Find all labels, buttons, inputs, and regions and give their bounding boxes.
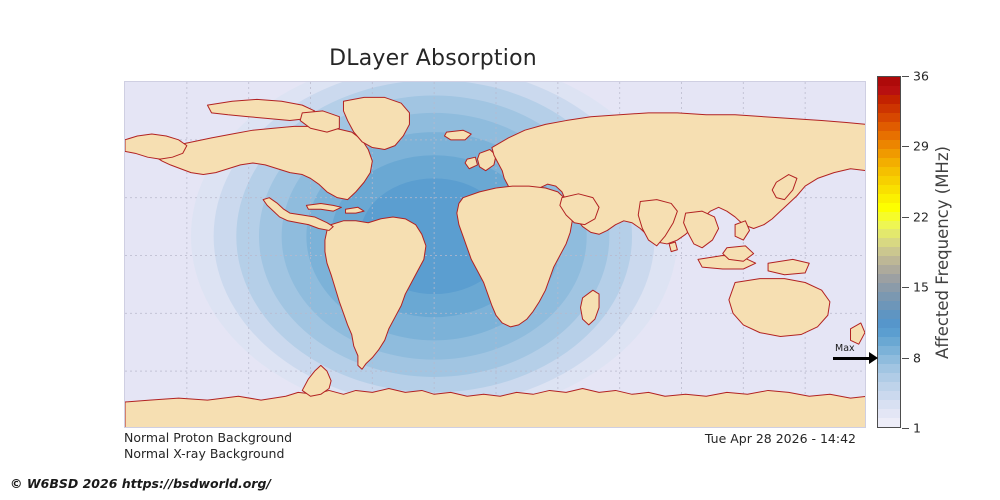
colorbar-segment <box>878 328 900 337</box>
xray-background-status: Normal X-ray Background <box>124 446 292 462</box>
landmass-australia <box>729 279 830 337</box>
world-map[interactable] <box>124 81 866 428</box>
colorbar-segment <box>878 301 900 310</box>
colorbar-tick <box>902 287 909 288</box>
page-title: DLayer Absorption <box>0 46 866 71</box>
max-marker-label: Max <box>835 344 855 354</box>
colorbar-tick <box>902 76 909 77</box>
colorbar-segment <box>878 364 900 373</box>
copyright-notice: © W6BSD 2026 https://bsdworld.org/ <box>10 476 271 491</box>
colorbar-axis-label: Affected Frequency (MHz) <box>930 76 954 428</box>
colorbar-segment <box>878 86 900 95</box>
colorbar-segment <box>878 203 900 212</box>
colorbar-tick-label: 1 <box>913 421 921 436</box>
colorbar-segment <box>878 319 900 328</box>
colorbar-segment <box>878 373 900 382</box>
landmass-iceland <box>444 130 471 140</box>
colorbar-segment <box>878 409 900 418</box>
colorbar-segment <box>878 158 900 167</box>
colorbar-segment <box>878 355 900 364</box>
map-canvas <box>125 82 865 427</box>
colorbar-tick <box>902 146 909 147</box>
timestamp: Tue Apr 28 2026 - 14:42 <box>0 431 866 446</box>
colorbar-segment <box>878 194 900 203</box>
colorbar-segment <box>878 185 900 194</box>
max-arrow-head <box>869 352 878 364</box>
colorbar-segment <box>878 140 900 149</box>
colorbar-segment <box>878 346 900 355</box>
colorbar-tick-label: 29 <box>913 139 929 154</box>
colorbar-segment <box>878 283 900 292</box>
colorbar-tick-label: 36 <box>913 69 929 84</box>
colorbar-segment <box>878 391 900 400</box>
colorbar-segment <box>878 274 900 283</box>
colorbar-segment <box>878 221 900 230</box>
colorbar-segment <box>878 337 900 346</box>
colorbar-tick-label: 15 <box>913 280 929 295</box>
colorbar-segment <box>878 238 900 247</box>
colorbar-segment <box>878 77 900 86</box>
colorbar[interactable]: 1815222936 Max <box>877 76 901 428</box>
max-arrow-shaft <box>833 357 871 360</box>
map-svg <box>125 82 865 427</box>
colorbar-segment <box>878 418 900 427</box>
max-marker: Max <box>833 349 879 369</box>
landmass-alaska <box>125 134 187 159</box>
dlayer-absorption-page: DLayer Absorption <box>0 0 1000 500</box>
landmass-southeast-asia <box>684 211 719 248</box>
colorbar-segment <box>878 382 900 391</box>
colorbar-tick <box>902 428 909 429</box>
colorbar-tick-label: 8 <box>913 350 921 365</box>
colorbar-segment <box>878 95 900 104</box>
colorbar-segment <box>878 131 900 140</box>
landmass-sri-lanka <box>669 242 677 252</box>
colorbar-segment <box>878 167 900 176</box>
colorbar-segment <box>878 247 900 256</box>
colorbar-segment <box>878 176 900 185</box>
colorbar-segment <box>878 149 900 158</box>
colorbar-segment <box>878 292 900 301</box>
colorbar-segment <box>878 229 900 238</box>
colorbar-segment <box>878 256 900 265</box>
colorbar-segment <box>878 104 900 113</box>
landmass-new-guinea <box>768 259 809 274</box>
colorbar-segment <box>878 113 900 122</box>
colorbar-gradient <box>877 76 901 428</box>
colorbar-axis-label-text: Affected Frequency (MHz) <box>933 146 952 359</box>
colorbar-tick <box>902 358 909 359</box>
colorbar-segment <box>878 212 900 221</box>
colorbar-tick-label: 22 <box>913 209 929 224</box>
colorbar-segment <box>878 122 900 131</box>
colorbar-segment <box>878 400 900 409</box>
colorbar-tick <box>902 217 909 218</box>
colorbar-segment <box>878 310 900 319</box>
landmass-new-zealand <box>851 323 865 344</box>
colorbar-segment <box>878 265 900 274</box>
